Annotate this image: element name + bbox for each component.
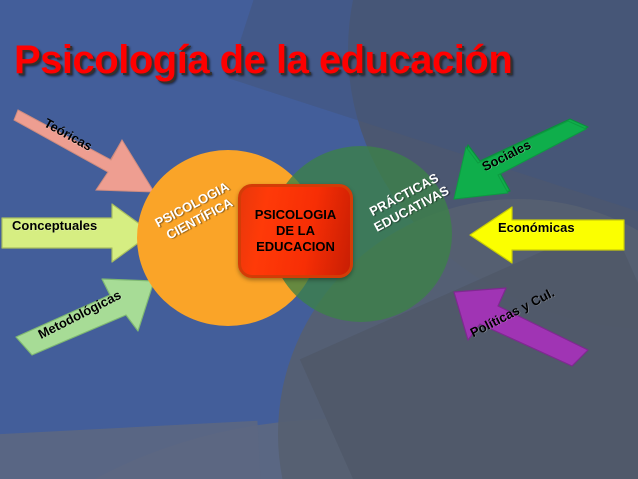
slide-title: Psicología de la educación [14,38,512,83]
arrow-politicas: Políticas y Cul. [452,278,592,356]
center-box-label: PSICOLOGIA DE LA EDUCACION [255,207,337,255]
arrow-economicas: Económicas [466,205,626,265]
background-shape-bottom-left-wedge [0,421,262,479]
arrow-economicas-label: Económicas [498,220,575,235]
background-shape-bottom-band [0,419,638,479]
slide-canvas: Psicología de la educación Teóricas Conc… [0,0,638,479]
arrow-conceptuales: Conceptuales [0,202,155,264]
arrow-conceptuales-label: Conceptuales [12,218,97,233]
center-box-psicologia-de-la-educacion: PSICOLOGIA DE LA EDUCACION [238,184,353,278]
arrow-teoricas: Teóricas [12,104,160,194]
arrow-sociales: Sociales [452,125,592,203]
arrow-metodologicas: Metodológicas [12,275,160,357]
